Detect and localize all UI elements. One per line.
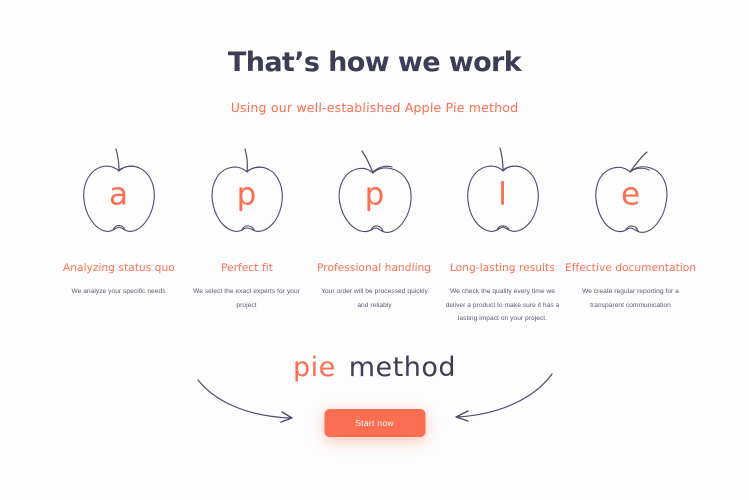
apple-outline-icon bbox=[65, 140, 173, 248]
page-root: That’s how we work Using our well-establ… bbox=[0, 0, 749, 500]
step-title-3: Professional handling bbox=[317, 262, 432, 274]
pie-method-wordmark: piemethod bbox=[0, 352, 749, 383]
start-now-button[interactable]: Start now bbox=[324, 409, 425, 437]
step-description-2: We select the exact experts for your pro… bbox=[188, 285, 306, 312]
apple-outline-icon bbox=[449, 140, 557, 248]
step-title-5: Effective documentation bbox=[565, 262, 697, 274]
apple-outline-icon bbox=[321, 140, 429, 248]
wordmark-method: method bbox=[349, 352, 456, 383]
step-description-3: Your order will be processed quickly and… bbox=[316, 285, 434, 312]
step-title-1: Analyzing status quo bbox=[62, 262, 174, 274]
step-item-3: p Professional handling Your order will … bbox=[313, 140, 437, 312]
wordmark-pie: pie bbox=[293, 352, 336, 383]
step-description-5: We create regular reporting for a transp… bbox=[572, 285, 690, 312]
page-subtitle: Using our well-established Apple Pie met… bbox=[0, 100, 749, 115]
step-description-1: We analyze your specific needs bbox=[60, 285, 178, 299]
apple-illustration-1: a bbox=[65, 140, 173, 248]
step-item-4: l Long-lasting results We check the qual… bbox=[441, 140, 565, 326]
step-description-4: We check the quality every time we deliv… bbox=[444, 285, 562, 326]
apple-illustration-5: e bbox=[577, 140, 685, 248]
step-title-2: Perfect fit bbox=[220, 262, 272, 274]
page-title: That’s how we work bbox=[0, 48, 749, 78]
apple-illustration-2: p bbox=[193, 140, 301, 248]
step-item-5: e Effective documentation We create regu… bbox=[569, 140, 693, 312]
steps-row: a Analyzing status quo We analyze your s… bbox=[0, 140, 749, 326]
heading-block: That’s how we work Using our well-establ… bbox=[0, 48, 749, 115]
step-item-2: p Perfect fit We select the exact expert… bbox=[185, 140, 309, 312]
apple-outline-icon bbox=[577, 140, 685, 248]
apple-illustration-4: l bbox=[449, 140, 557, 248]
apple-outline-icon bbox=[193, 140, 301, 248]
apple-illustration-3: p bbox=[321, 140, 429, 248]
step-title-4: Long-lasting results bbox=[450, 262, 555, 274]
curved-arrow-right-icon bbox=[196, 378, 306, 426]
step-item-1: a Analyzing status quo We analyze your s… bbox=[57, 140, 181, 299]
